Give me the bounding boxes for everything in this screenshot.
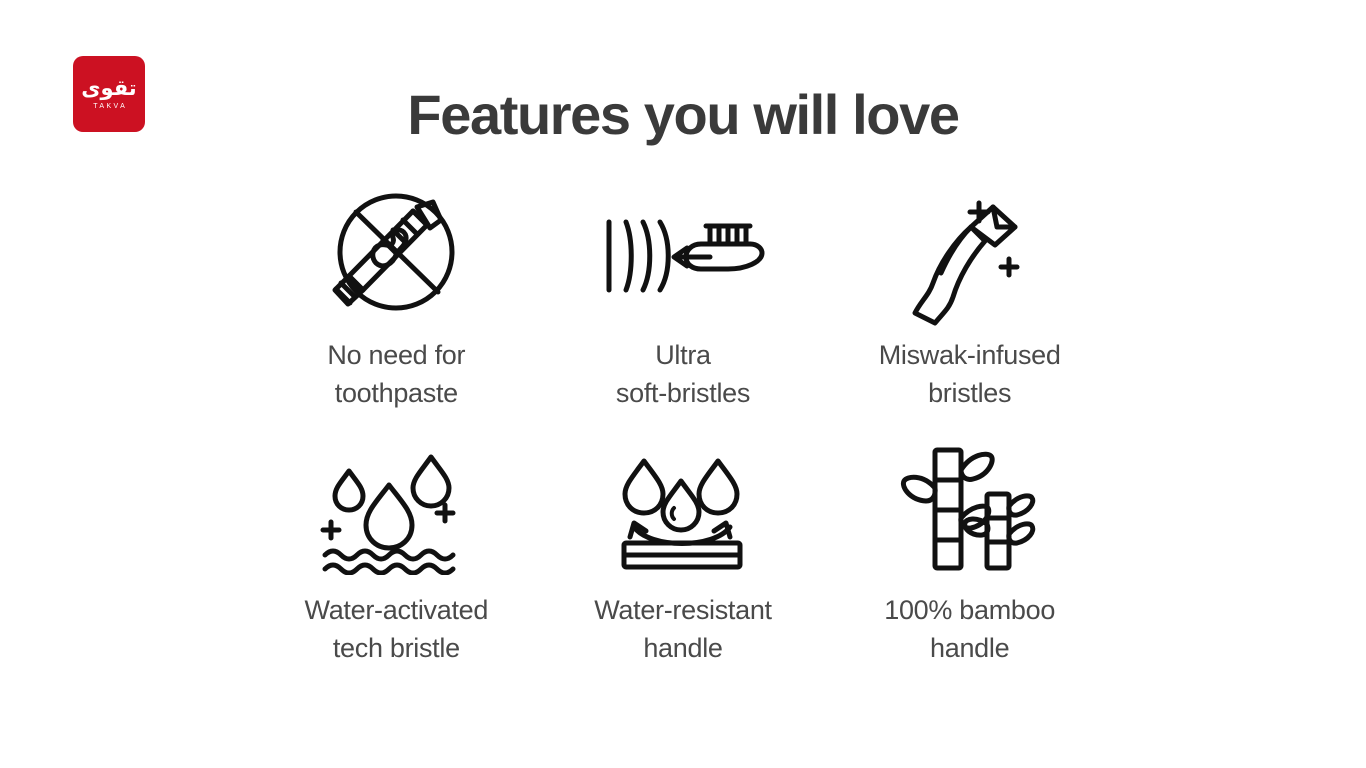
feature-label: Water-activated tech bristle [305,591,489,667]
feature-item-no-toothpaste: No need for toothpaste [253,180,540,435]
feature-item-water-resistant: Water-resistant handle [540,435,827,690]
no-toothpaste-icon [321,180,471,330]
feature-label: 100% bamboo handle [884,591,1055,667]
feature-item-miswak: Miswak-infused bristles [826,180,1113,435]
water-drops-waves-icon [319,435,474,585]
feature-item-soft-bristles: Ultra soft-bristles [540,180,827,435]
water-resistant-surface-icon [610,435,755,585]
feature-label: No need for toothpaste [327,336,465,412]
miswak-stick-icon [897,180,1042,330]
feature-item-bamboo: 100% bamboo handle [826,435,1113,690]
feature-grid: No need for toothpaste Ultra soft-br [253,180,1113,690]
feature-item-water-activated: Water-activated tech bristle [253,435,540,690]
feature-label: Ultra soft-bristles [616,336,750,412]
feature-label: Water-resistant handle [594,591,772,667]
feature-label: Miswak-infused bristles [879,336,1061,412]
bamboo-stalks-icon [897,435,1042,585]
page-title: Features you will love [0,84,1366,146]
soft-bristles-icon [600,180,765,330]
